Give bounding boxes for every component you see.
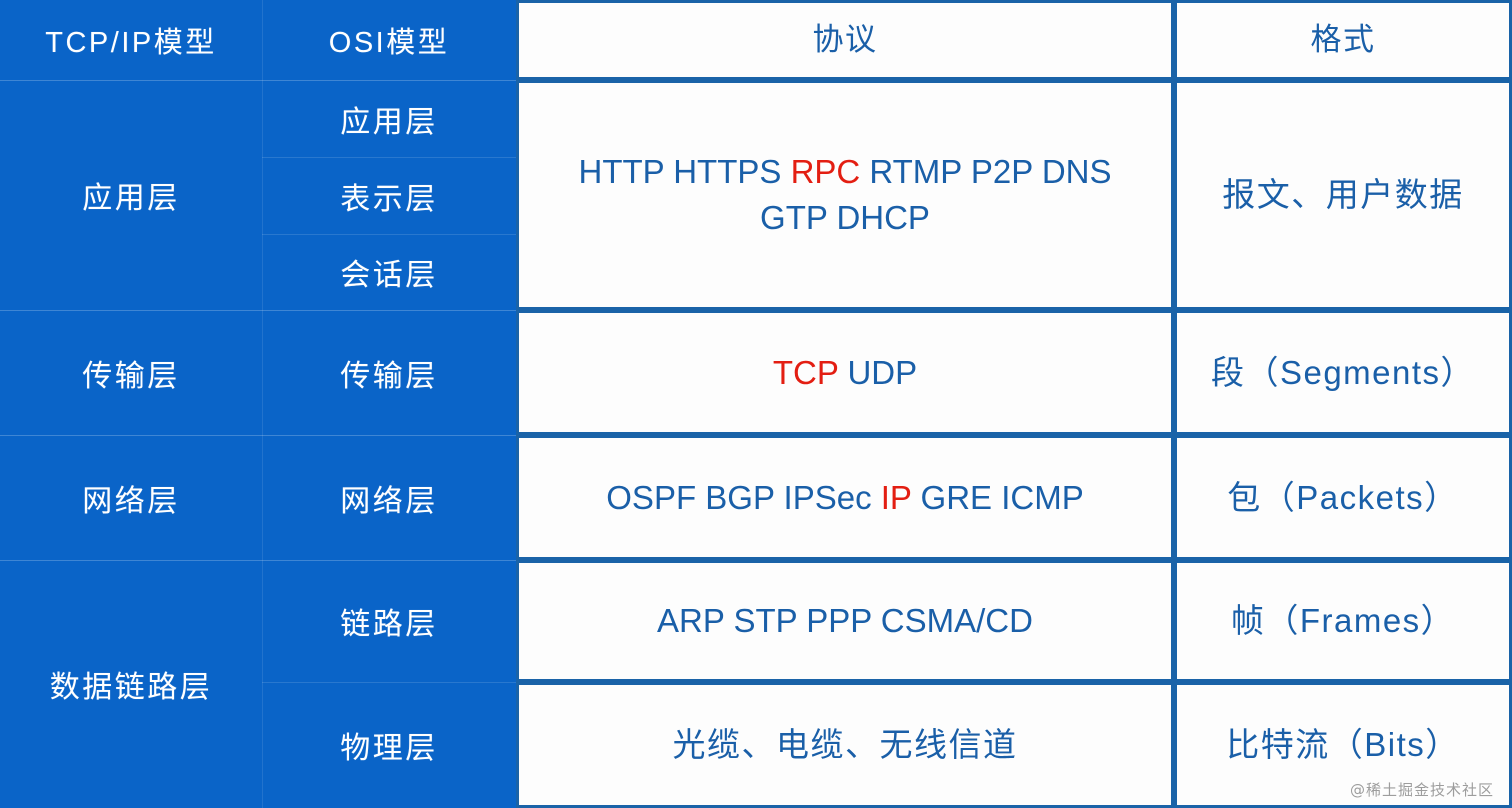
format-cell-application: 报文、用户数据	[1174, 80, 1512, 310]
tcpip-layer-datalink-label: 数据链路层	[50, 662, 213, 706]
tcpip-layer-datalink: 数据链路层	[0, 560, 262, 808]
osi-layer-application-label: 应用层	[340, 97, 438, 141]
protocol-network-highlight: IP	[881, 479, 912, 516]
header-protocol-label: 协议	[813, 19, 878, 62]
protocol-physical-text: 光缆、电缆、无线信道	[673, 722, 1018, 768]
format-network-label: 包（Packets）	[1227, 475, 1458, 521]
protocol-transport-part2: UDP	[838, 354, 917, 391]
format-cell-link: 帧（Frames）	[1174, 560, 1512, 682]
osi-layer-datalink: 链路层	[262, 560, 516, 682]
protocol-application-part1: HTTP HTTPS	[578, 153, 790, 190]
osi-layer-network: 网络层	[262, 435, 516, 560]
osi-layer-application: 应用层	[262, 80, 516, 157]
protocol-transport-highlight: TCP	[773, 354, 838, 391]
protocol-application-line2: GTP DHCP	[760, 199, 930, 236]
osi-layer-session: 会话层	[262, 234, 516, 310]
protocol-network-part2: GRE ICMP	[911, 479, 1083, 516]
osi-layer-physical: 物理层	[262, 682, 516, 808]
osi-layer-transport-label: 传输层	[340, 351, 438, 395]
osi-layer-presentation: 表示层	[262, 157, 516, 234]
tcpip-layer-application: 应用层	[0, 80, 262, 310]
watermark: @稀土掘金技术社区	[1350, 779, 1494, 800]
protocol-transport-text: TCP UDP	[773, 350, 917, 396]
format-application-label: 报文、用户数据	[1222, 172, 1464, 218]
tcpip-layer-application-label: 应用层	[82, 173, 180, 217]
osi-layer-datalink-label: 链路层	[340, 599, 438, 643]
protocol-application-highlight: RPC	[791, 153, 861, 190]
osi-layer-transport: 传输层	[262, 310, 516, 435]
protocol-application-part2: RTMP P2P DNS	[860, 153, 1111, 190]
tcpip-layer-transport-label: 传输层	[82, 351, 180, 395]
osi-layer-physical-label: 物理层	[340, 723, 438, 767]
format-physical-label: 比特流（Bits）	[1226, 722, 1460, 768]
protocol-layers-table: TCP/IP模型 OSI模型 应用层 传输层 网络层 数据链路层 应用层 表示层…	[0, 0, 1512, 808]
header-format-label: 格式	[1311, 19, 1376, 62]
format-transport-label: 段（Segments）	[1211, 350, 1475, 396]
header-osi-model-label: OSI模型	[329, 19, 449, 61]
protocol-link-part1: ARP STP PPP CSMA/CD	[657, 602, 1033, 639]
format-link-label: 帧（Frames）	[1231, 598, 1455, 644]
protocol-network-text: OSPF BGP IPSec IP GRE ICMP	[606, 475, 1083, 521]
osi-layer-network-label: 网络层	[340, 476, 438, 520]
header-tcpip-model-label: TCP/IP模型	[45, 19, 216, 61]
protocol-network-part1: OSPF BGP IPSec	[606, 479, 881, 516]
tcpip-layer-network-label: 网络层	[82, 476, 180, 520]
protocol-cell-transport: TCP UDP	[516, 310, 1174, 435]
header-tcpip-model: TCP/IP模型	[0, 0, 262, 80]
format-cell-transport: 段（Segments）	[1174, 310, 1512, 435]
tcpip-layer-network: 网络层	[0, 435, 262, 560]
protocol-link-text: ARP STP PPP CSMA/CD	[657, 598, 1033, 644]
protocol-cell-application: HTTP HTTPS RPC RTMP P2P DNSGTP DHCP	[516, 80, 1174, 310]
protocol-cell-link: ARP STP PPP CSMA/CD	[516, 560, 1174, 682]
tcpip-layer-transport: 传输层	[0, 310, 262, 435]
osi-layer-presentation-label: 表示层	[340, 174, 438, 218]
header-protocol: 协议	[516, 0, 1174, 80]
osi-layer-session-label: 会话层	[340, 250, 438, 294]
protocol-cell-network: OSPF BGP IPSec IP GRE ICMP	[516, 435, 1174, 560]
format-cell-network: 包（Packets）	[1174, 435, 1512, 560]
header-format: 格式	[1174, 0, 1512, 80]
protocol-application-text: HTTP HTTPS RPC RTMP P2P DNSGTP DHCP	[578, 149, 1111, 240]
header-osi-model: OSI模型	[262, 0, 516, 80]
protocol-cell-physical: 光缆、电缆、无线信道	[516, 682, 1174, 808]
